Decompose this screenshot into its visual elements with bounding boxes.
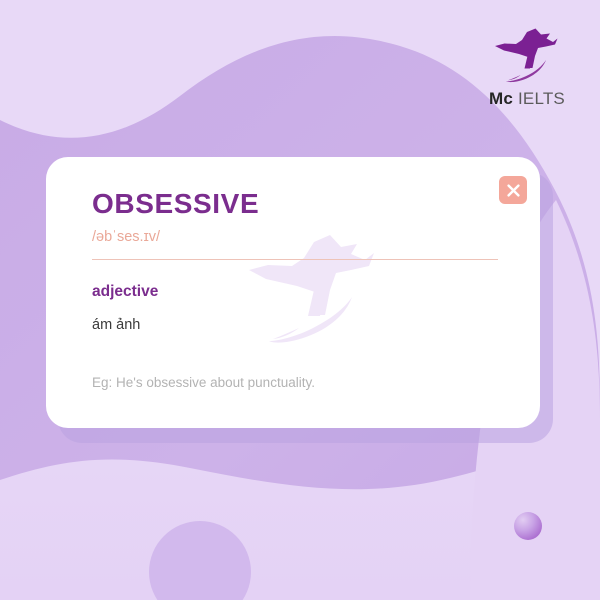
divider bbox=[92, 259, 498, 260]
hummingbird-icon bbox=[491, 24, 563, 86]
gradient-sphere bbox=[514, 512, 542, 540]
word-meaning: ám ảnh bbox=[92, 316, 494, 335]
brand-logo: Mc IELTS bbox=[474, 24, 580, 116]
brand-logo-text: Mc IELTS bbox=[474, 89, 580, 108]
close-icon bbox=[507, 184, 520, 197]
page-canvas: Mc IELTS OBSESSIVE /əbˈses.ɪv/ adjective bbox=[0, 0, 600, 600]
brand-name-secondary: IELTS bbox=[518, 89, 565, 108]
close-button[interactable] bbox=[499, 176, 527, 204]
brand-name-primary: Mc bbox=[489, 89, 513, 108]
card-content: OBSESSIVE /əbˈses.ɪv/ adjective ám ảnh E… bbox=[92, 187, 494, 392]
vocabulary-card: OBSESSIVE /əbˈses.ɪv/ adjective ám ảnh E… bbox=[46, 157, 540, 428]
word-title: OBSESSIVE bbox=[92, 187, 494, 221]
example-sentence: Eg: He's obsessive about punctuality. bbox=[92, 374, 494, 392]
phonetic-transcription: /əbˈses.ɪv/ bbox=[92, 228, 494, 246]
part-of-speech: adjective bbox=[92, 282, 494, 301]
